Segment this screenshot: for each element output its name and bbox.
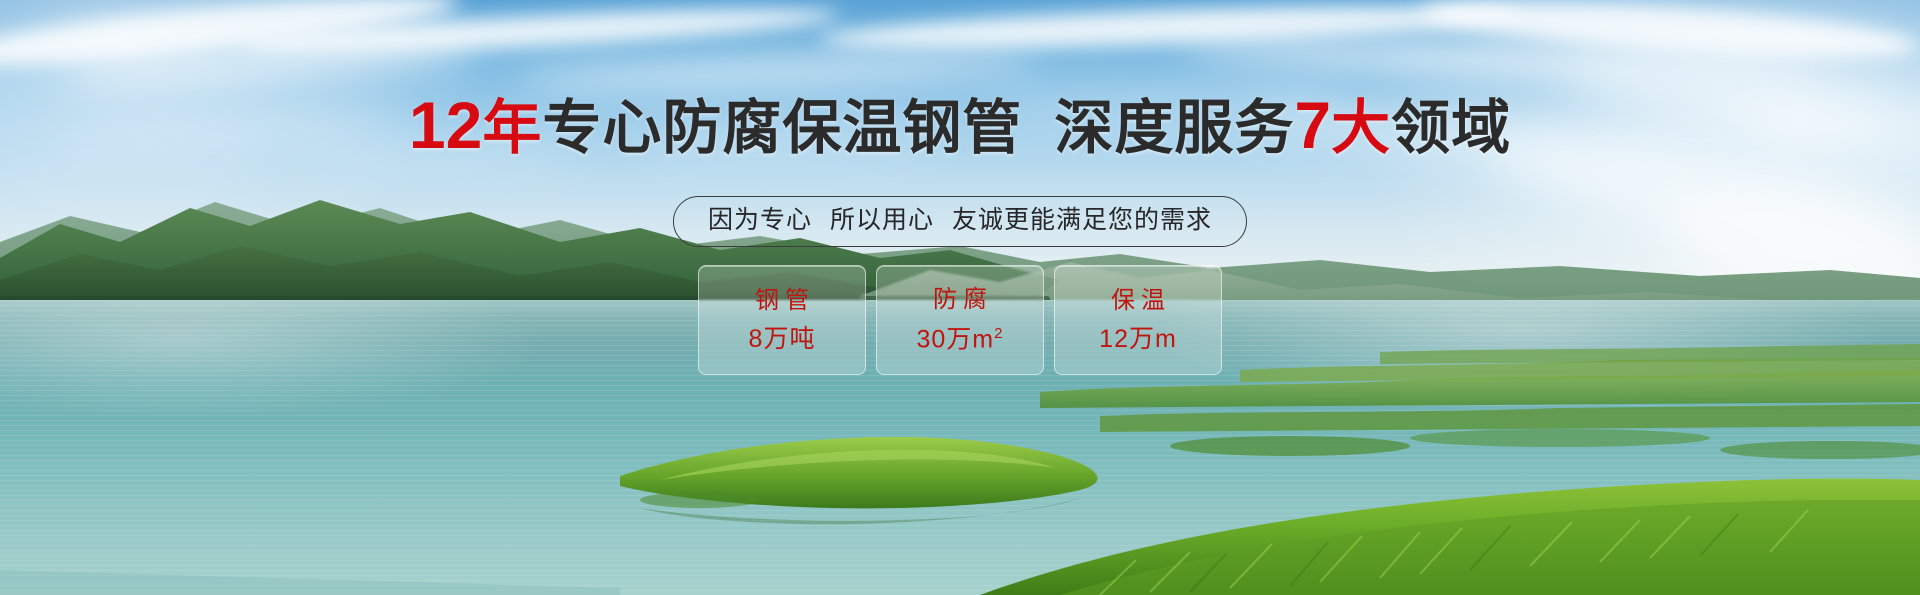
stat-value-exponent: 2 bbox=[994, 325, 1003, 342]
headline-main-text: 专心防腐保温钢管 bbox=[542, 95, 1022, 161]
stat-card-group: 钢管 8万吨 防腐 30万m2 保温 12万m bbox=[698, 265, 1222, 375]
banner-headline: 12年专心防腐保温钢管深度服务7大领域 bbox=[0, 92, 1920, 158]
subtitle-part-2: 所以用心 bbox=[830, 206, 934, 234]
stat-label: 钢管 bbox=[749, 289, 815, 313]
headline-fields-text: 领域 bbox=[1391, 95, 1511, 161]
stat-value-main: 12万m bbox=[1099, 325, 1177, 353]
subtitle-pill: 因为专心所以用心友诚更能满足您的需求 bbox=[673, 196, 1247, 247]
subtitle-part-3: 友诚更能满足您的需求 bbox=[952, 206, 1212, 234]
stat-value: 12万m bbox=[1099, 327, 1177, 352]
stat-card-steel-pipe: 钢管 8万吨 bbox=[698, 265, 866, 375]
stat-value: 30万m2 bbox=[917, 326, 1004, 352]
stat-card-insulation: 保温 12万m bbox=[1054, 265, 1222, 375]
headline-years-unit: 年 bbox=[482, 95, 542, 161]
stat-label: 保温 bbox=[1105, 289, 1171, 313]
hero-banner: 12年专心防腐保温钢管深度服务7大领域 因为专心所以用心友诚更能满足您的需求 钢… bbox=[0, 0, 1920, 595]
stat-value-main: 30万m bbox=[917, 325, 995, 353]
headline-fields-unit: 大 bbox=[1331, 95, 1391, 161]
headline-years-number: 12 bbox=[409, 88, 482, 162]
subtitle-part-1: 因为专心 bbox=[708, 206, 812, 234]
stat-value-main: 8万吨 bbox=[749, 325, 816, 353]
banner-content: 12年专心防腐保温钢管深度服务7大领域 因为专心所以用心友诚更能满足您的需求 钢… bbox=[0, 0, 1920, 595]
stat-card-anticorrosion: 防腐 30万m2 bbox=[876, 265, 1044, 375]
stat-label: 防腐 bbox=[927, 288, 993, 312]
stat-value: 8万吨 bbox=[749, 327, 816, 352]
headline-fields-number: 7 bbox=[1294, 88, 1331, 162]
headline-service-text: 深度服务 bbox=[1054, 95, 1294, 161]
